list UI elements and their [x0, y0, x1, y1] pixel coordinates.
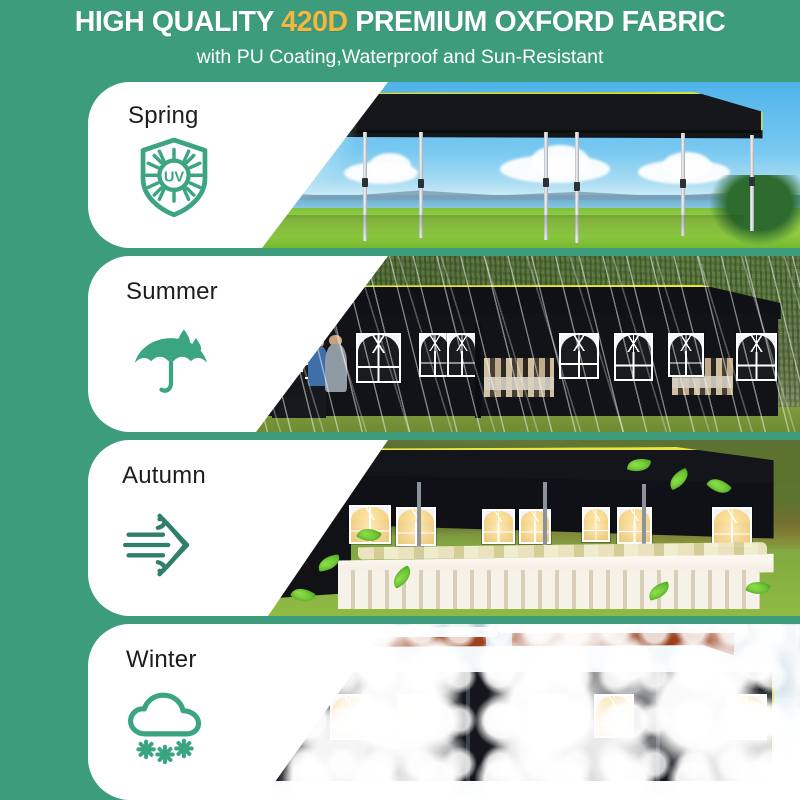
page-title: HIGH QUALITY 420D PREMIUM OXFORD FABRIC	[0, 0, 800, 37]
tent-window	[617, 507, 653, 544]
tent-leg	[750, 135, 754, 231]
tent-window	[594, 694, 633, 738]
wall-seam	[466, 672, 470, 781]
tent-window	[668, 333, 704, 377]
tent-window	[727, 694, 768, 740]
season-label-winter: Winter	[126, 646, 197, 674]
tent-window	[356, 333, 401, 382]
tent-window	[482, 509, 515, 544]
title-text-post: PREMIUM OXFORD FABRIC	[348, 6, 726, 38]
title-highlight-420d: 420D	[281, 6, 348, 38]
season-label-spring: Spring	[128, 102, 199, 130]
tent-window	[559, 333, 599, 379]
person	[325, 344, 347, 392]
season-row-spring: Spring UV	[0, 82, 800, 248]
banquet-table	[484, 377, 554, 389]
cloud-shape	[663, 152, 711, 178]
season-row-winter: Winter	[0, 624, 800, 800]
season-row-summer: Summer	[0, 256, 800, 432]
tent-shadow	[231, 215, 744, 238]
tent-window	[397, 694, 435, 740]
title-text-pre: HIGH QUALITY	[75, 6, 281, 38]
tent-window	[447, 333, 478, 377]
tent-window	[736, 333, 777, 381]
wall-seam	[656, 672, 660, 781]
tent-window	[330, 694, 371, 740]
uv-shield-icon: UV	[131, 134, 217, 220]
season-label-autumn: Autumn	[122, 462, 206, 490]
tent-gap	[475, 323, 481, 418]
banquet-table	[672, 376, 733, 388]
season-row-autumn: Autumn	[0, 440, 800, 616]
page-subtitle: with PU Coating,Waterproof and Sun-Resis…	[0, 37, 800, 68]
tent-window	[528, 694, 569, 738]
wind-gust-icon	[120, 502, 206, 588]
tent-window	[582, 507, 610, 542]
header-banner: HIGH QUALITY 420D PREMIUM OXFORD FABRIC …	[0, 0, 800, 78]
season-label-summer: Summer	[126, 278, 218, 306]
cloud-snow-icon	[122, 684, 208, 770]
svg-text:UV: UV	[164, 170, 185, 186]
umbrella-raindrops-icon	[128, 314, 214, 400]
tent-window	[614, 333, 652, 381]
cloud-shape	[531, 145, 589, 177]
tent-window	[712, 507, 753, 547]
tent-window	[396, 507, 436, 546]
